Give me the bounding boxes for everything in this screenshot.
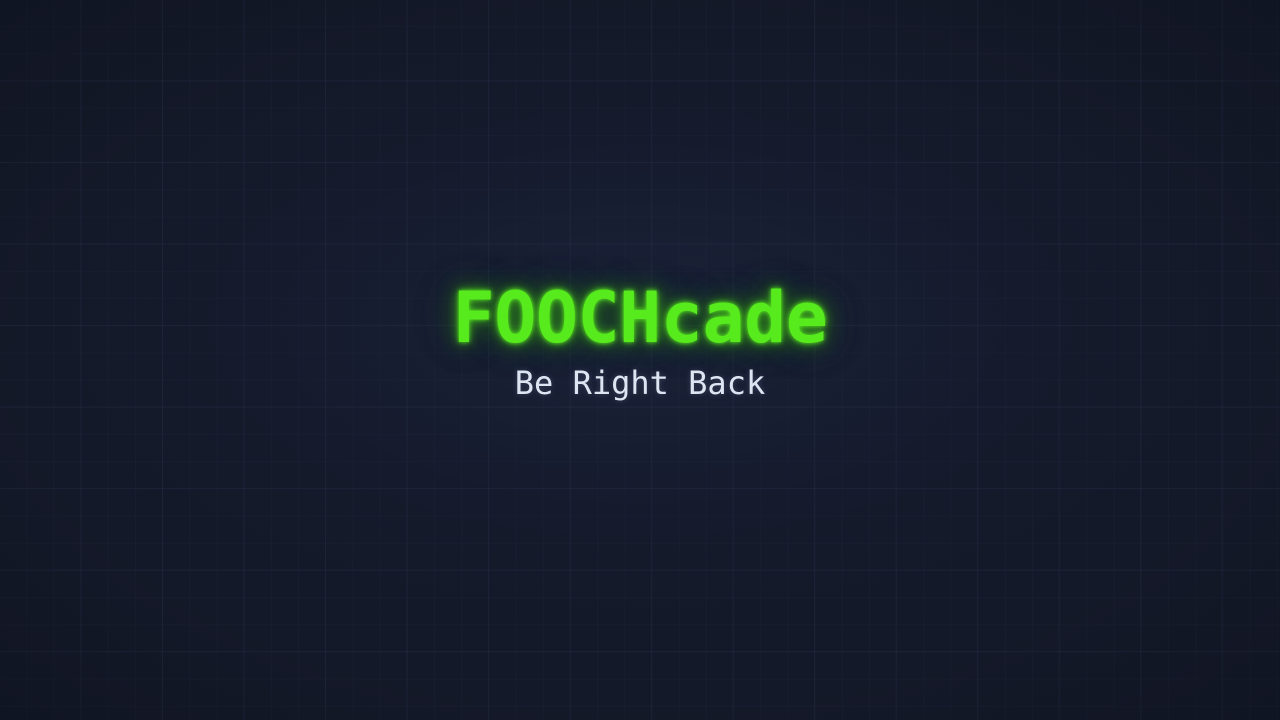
status-message: Be Right Back [515,367,765,399]
brand-title: FOOCHcade [453,283,828,353]
splash-content: FOOCHcade Be Right Back [0,0,1280,720]
splash-screen: FOOCHcade Be Right Back [0,0,1280,720]
